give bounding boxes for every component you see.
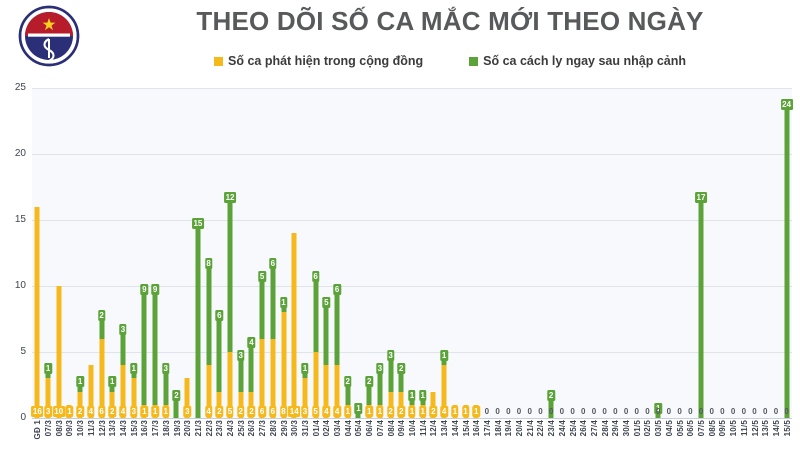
x-axis-tick: 27/4 xyxy=(590,420,599,436)
x-axis-tick: 08/3 xyxy=(55,420,64,436)
bar-column[interactable]: 21 xyxy=(364,88,375,418)
bar-value-label-community: 1 xyxy=(462,406,469,417)
bar-column[interactable]: 26 xyxy=(96,88,107,418)
y-axis-tick: 0 xyxy=(0,412,26,423)
bar-value-label-community: 14 xyxy=(288,406,300,417)
x-axis-labels: GĐ 107/308/309/310/311/312/313/314/315/3… xyxy=(32,420,792,450)
x-axis-tick: 13/4 xyxy=(440,420,449,436)
x-axis-tick: 25/3 xyxy=(237,420,246,436)
bar-column[interactable]: 13 xyxy=(43,88,54,418)
bar-column[interactable]: 31 xyxy=(160,88,171,418)
x-axis-tick: 28/3 xyxy=(269,420,278,436)
axis-baseline xyxy=(32,418,792,419)
bar-value-label-community: 1 xyxy=(451,406,458,417)
legend-swatch-community xyxy=(214,57,223,66)
x-axis-tick: 10/5 xyxy=(729,420,738,436)
bar-column[interactable]: 0 xyxy=(760,88,771,418)
x-axis-tick: 11/3 xyxy=(87,420,96,436)
x-axis-tick: 19/4 xyxy=(504,420,513,436)
bar-value-label-zero: 0 xyxy=(783,406,790,417)
bar-column[interactable]: 2 xyxy=(171,88,182,418)
bar-value-label-quarantine: 1 xyxy=(280,297,287,308)
bar-column[interactable]: 22 xyxy=(396,88,407,418)
bar-column[interactable]: 91 xyxy=(150,88,161,418)
bar-column[interactable]: 0 xyxy=(524,88,535,418)
x-axis-tick: 02/4 xyxy=(322,420,331,436)
bar-column[interactable]: 11 xyxy=(417,88,428,418)
bar-column[interactable]: 0 xyxy=(717,88,728,418)
bar-value-label-zero: 0 xyxy=(569,406,576,417)
bar-value-label-zero: 0 xyxy=(665,406,672,417)
x-axis-tick: 23/3 xyxy=(215,420,224,436)
x-axis-tick: 21/3 xyxy=(194,420,203,436)
x-axis-tick: 28/4 xyxy=(601,420,610,436)
bar-value-label-zero: 0 xyxy=(644,406,651,417)
bar-column[interactable]: 14 xyxy=(289,88,300,418)
bar-value-label-quarantine: 1 xyxy=(109,376,116,387)
bar-value-label-quarantine: 1 xyxy=(440,350,447,361)
bar-value-label-quarantine: 15 xyxy=(192,218,204,229)
bar-quarantine[interactable] xyxy=(153,286,158,405)
bar-column[interactable]: 1 xyxy=(449,88,460,418)
bar-community[interactable] xyxy=(56,286,61,418)
chart-header: THEO DÕI SỐ CA MẮC MỚI THEO NGÀY Số ca p… xyxy=(0,0,800,78)
bar-value-label-community: 1 xyxy=(141,406,148,417)
bar-column[interactable]: 0 xyxy=(567,88,578,418)
legend-item-community[interactable]: Số ca phát hiện trong cộng đồng xyxy=(214,54,423,68)
bar-value-label-quarantine: 5 xyxy=(323,297,330,308)
bar-value-label-community: 5 xyxy=(312,406,319,417)
bar-value-label-community: 2 xyxy=(76,406,83,417)
y-axis-tick: 20 xyxy=(0,148,26,159)
bar-value-label-zero: 0 xyxy=(676,406,683,417)
x-axis-tick: 07/4 xyxy=(376,420,385,436)
bar-value-label-quarantine: 1 xyxy=(419,390,426,401)
bar-column[interactable]: 31 xyxy=(375,88,386,418)
chart-plot-area: 1613101124261234139191312315846212532425… xyxy=(32,88,792,418)
bar-column[interactable]: 42 xyxy=(246,88,257,418)
bar-column[interactable]: 0 xyxy=(599,88,610,418)
x-axis-tick: 11/5 xyxy=(740,420,749,436)
x-axis-tick: 29/4 xyxy=(611,420,620,436)
bar-value-label-community: 2 xyxy=(237,406,244,417)
x-axis-tick: 14/5 xyxy=(772,420,781,436)
bar-value-label-zero: 0 xyxy=(526,406,533,417)
bar-column[interactable]: 65 xyxy=(310,88,321,418)
bar-column[interactable]: 0 xyxy=(642,88,653,418)
bar-value-label-community: 1 xyxy=(344,406,351,417)
bar-value-label-zero: 0 xyxy=(708,406,715,417)
bar-column[interactable]: 13 xyxy=(128,88,139,418)
bar-value-label-zero: 0 xyxy=(654,406,661,417)
x-axis-tick: 06/4 xyxy=(365,420,374,436)
bar-value-label-zero: 0 xyxy=(483,406,490,417)
bar-column[interactable]: 20 xyxy=(546,88,557,418)
bar-value-label-quarantine: 6 xyxy=(216,310,223,321)
bar-column[interactable]: 170 xyxy=(696,88,707,418)
bar-quarantine[interactable] xyxy=(324,299,329,365)
x-axis-tick: 04/4 xyxy=(344,420,353,436)
bar-value-label-quarantine: 6 xyxy=(333,284,340,295)
y-axis-tick: 5 xyxy=(0,346,26,357)
bar-column[interactable]: 0 xyxy=(749,88,760,418)
x-axis-tick: 06/5 xyxy=(686,420,695,436)
x-axis-tick: 13/5 xyxy=(761,420,770,436)
x-axis-tick: 11/4 xyxy=(419,420,428,436)
bar-column[interactable]: 125 xyxy=(225,88,236,418)
x-axis-tick: 19/3 xyxy=(173,420,182,436)
bar-column[interactable]: 240 xyxy=(781,88,792,418)
bar-column[interactable]: 3 xyxy=(182,88,193,418)
bar-value-label-quarantine: 24 xyxy=(781,99,793,110)
bar-value-label-community: 2 xyxy=(248,406,255,417)
bar-value-label-quarantine: 2 xyxy=(547,390,554,401)
x-axis-tick: 15/4 xyxy=(462,420,471,436)
bar-columns: 1613101124261234139191312315846212532425… xyxy=(32,88,792,418)
bar-community[interactable] xyxy=(35,207,40,418)
bar-value-label-community: 16 xyxy=(31,406,43,417)
bar-value-label-community: 1 xyxy=(66,406,73,417)
bar-column[interactable]: 0 xyxy=(728,88,739,418)
x-axis-tick: 03/5 xyxy=(654,420,663,436)
x-axis-tick: 08/4 xyxy=(387,420,396,436)
x-axis-tick: 21/4 xyxy=(526,420,535,436)
x-axis-tick: 05/5 xyxy=(676,420,685,436)
bar-value-label-community: 4 xyxy=(333,406,340,417)
legend-item-quarantine[interactable]: Số ca cách ly ngay sau nhập cảnh xyxy=(469,54,686,68)
bar-column[interactable]: 10 xyxy=(53,88,64,418)
bar-quarantine[interactable] xyxy=(784,101,789,418)
bar-community[interactable] xyxy=(292,233,297,418)
x-axis-tick: 16/4 xyxy=(472,420,481,436)
bar-value-label-community: 6 xyxy=(98,406,105,417)
bar-value-label-community: 10 xyxy=(53,406,65,417)
bar-value-label-community: 2 xyxy=(430,406,437,417)
bar-value-label-zero: 0 xyxy=(740,406,747,417)
x-axis-tick: 31/3 xyxy=(301,420,310,436)
bar-value-label-zero: 0 xyxy=(761,406,768,417)
bar-value-label-zero: 0 xyxy=(622,406,629,417)
bar-column[interactable]: 13 xyxy=(300,88,311,418)
x-axis-tick: 30/4 xyxy=(622,420,631,436)
x-axis-tick: 14/3 xyxy=(119,420,128,436)
x-axis-tick: 30/3 xyxy=(290,420,299,436)
bar-column[interactable]: 11 xyxy=(407,88,418,418)
bar-column[interactable]: 16 xyxy=(32,88,43,418)
bo-y-te-logo-icon xyxy=(18,5,80,67)
x-axis-tick: 15/5 xyxy=(783,420,792,436)
bar-column[interactable]: 12 xyxy=(107,88,118,418)
bar-column[interactable]: 0 xyxy=(578,88,589,418)
bar-value-label-zero: 0 xyxy=(612,406,619,417)
bar-value-label-community: 4 xyxy=(323,406,330,417)
bar-value-label-zero: 0 xyxy=(590,406,597,417)
x-axis-tick: 13/3 xyxy=(108,420,117,436)
bar-column[interactable]: 34 xyxy=(118,88,129,418)
x-axis-tick: 12/4 xyxy=(429,420,438,436)
bar-column[interactable]: 0 xyxy=(557,88,568,418)
bar-column[interactable]: 0 xyxy=(631,88,642,418)
bar-column[interactable]: 0 xyxy=(685,88,696,418)
bar-value-label-community: 6 xyxy=(258,406,265,417)
x-axis-tick: 03/4 xyxy=(333,420,342,436)
bar-column[interactable]: 2 xyxy=(428,88,439,418)
bar-value-label-community: 1 xyxy=(151,406,158,417)
bar-value-label-zero: 0 xyxy=(772,406,779,417)
x-axis-tick: 25/4 xyxy=(569,420,578,436)
bar-column[interactable]: 62 xyxy=(214,88,225,418)
bar-value-label-zero: 0 xyxy=(729,406,736,417)
x-axis-tick: 18/4 xyxy=(494,420,503,436)
x-axis-tick: 16/3 xyxy=(140,420,149,436)
bar-value-label-community: 2 xyxy=(109,406,116,417)
x-axis-tick: 15/3 xyxy=(130,420,139,436)
bar-column[interactable]: 10 xyxy=(653,88,664,418)
bar-quarantine[interactable] xyxy=(270,260,275,339)
bar-column[interactable]: 1 xyxy=(460,88,471,418)
bar-value-label-community: 1 xyxy=(419,406,426,417)
bar-quarantine[interactable] xyxy=(217,312,222,391)
bar-column[interactable]: 64 xyxy=(332,88,343,418)
bar-value-label-community: 8 xyxy=(280,406,287,417)
bar-column[interactable]: 54 xyxy=(321,88,332,418)
y-axis-tick: 10 xyxy=(0,280,26,291)
bar-column[interactable]: 14 xyxy=(439,88,450,418)
bar-value-label-community: 6 xyxy=(269,406,276,417)
page-title: THEO DÕI SỐ CA MẮC MỚI THEO NGÀY xyxy=(120,6,780,37)
bar-value-label-quarantine: 9 xyxy=(151,284,158,295)
bar-column[interactable]: 0 xyxy=(771,88,782,418)
x-axis-tick: 26/4 xyxy=(579,420,588,436)
x-axis-tick: 26/3 xyxy=(247,420,256,436)
bar-column[interactable]: 0 xyxy=(674,88,685,418)
bar-value-label-community: 1 xyxy=(408,406,415,417)
bar-value-label-zero: 0 xyxy=(580,406,587,417)
x-axis-tick: 04/5 xyxy=(665,420,674,436)
legend-label-quarantine: Số ca cách ly ngay sau nhập cảnh xyxy=(483,54,686,68)
bar-quarantine[interactable] xyxy=(699,194,704,418)
bar-column[interactable]: 21 xyxy=(342,88,353,418)
bar-value-label-zero: 0 xyxy=(558,406,565,417)
bar-column[interactable]: 32 xyxy=(385,88,396,418)
bar-value-label-zero: 0 xyxy=(515,406,522,417)
x-axis-tick: 18/3 xyxy=(162,420,171,436)
bar-column[interactable]: 0 xyxy=(482,88,493,418)
bar-value-label-zero: 0 xyxy=(719,406,726,417)
bar-value-label-community: 5 xyxy=(226,406,233,417)
x-axis-tick: 12/3 xyxy=(98,420,107,436)
bar-column[interactable]: 66 xyxy=(267,88,278,418)
bar-value-label-community: 2 xyxy=(387,406,394,417)
bar-value-label-quarantine: 17 xyxy=(695,192,707,203)
bar-column[interactable]: 18 xyxy=(278,88,289,418)
x-axis-tick: 07/3 xyxy=(44,420,53,436)
x-axis-tick: 08/5 xyxy=(708,420,717,436)
bar-value-label-quarantine: 5 xyxy=(258,271,265,282)
x-axis-tick: 02/5 xyxy=(643,420,652,436)
bar-value-label-quarantine: 1 xyxy=(355,403,362,414)
bar-value-label-quarantine: 9 xyxy=(141,284,148,295)
bar-column[interactable]: 12 xyxy=(75,88,86,418)
bar-value-label-quarantine: 6 xyxy=(269,258,276,269)
bar-value-label-quarantine: 1 xyxy=(301,363,308,374)
bar-value-label-quarantine: 12 xyxy=(224,192,236,203)
x-axis-tick: 22/3 xyxy=(205,420,214,436)
bar-value-label-community: 1 xyxy=(162,406,169,417)
legend-swatch-quarantine xyxy=(469,57,478,66)
bar-value-label-zero: 0 xyxy=(601,406,608,417)
bar-value-label-quarantine: 8 xyxy=(205,258,212,269)
bar-quarantine[interactable] xyxy=(313,273,318,352)
x-axis-tick: 20/3 xyxy=(183,420,192,436)
bar-value-label-community: 1 xyxy=(376,406,383,417)
bar-community[interactable] xyxy=(281,312,286,418)
bar-column[interactable]: 0 xyxy=(589,88,600,418)
bar-value-label-community: 3 xyxy=(44,406,51,417)
bar-column[interactable]: 4 xyxy=(86,88,97,418)
x-axis-tick: 17/4 xyxy=(483,420,492,436)
x-axis-tick: 29/3 xyxy=(280,420,289,436)
bar-value-label-quarantine: 1 xyxy=(130,363,137,374)
bar-value-label-quarantine: 2 xyxy=(173,390,180,401)
x-axis-tick: 05/4 xyxy=(354,420,363,436)
bar-value-label-zero: 0 xyxy=(505,406,512,417)
bar-column[interactable]: 0 xyxy=(492,88,503,418)
chart-legend: Số ca phát hiện trong cộng đồng Số ca cá… xyxy=(120,54,780,68)
x-axis-tick: 09/3 xyxy=(65,420,74,436)
bar-quarantine[interactable] xyxy=(335,286,340,365)
bar-value-label-quarantine: 2 xyxy=(398,363,405,374)
bar-value-label-quarantine: 3 xyxy=(162,363,169,374)
bar-value-label-quarantine: 3 xyxy=(387,350,394,361)
bar-value-label-community: 1 xyxy=(365,406,372,417)
x-axis-tick: 09/5 xyxy=(718,420,727,436)
x-axis-tick: 23/4 xyxy=(547,420,556,436)
x-axis-tick: 07/5 xyxy=(697,420,706,436)
bar-value-label-community: 3 xyxy=(183,406,190,417)
bar-value-label-quarantine: 1 xyxy=(44,363,51,374)
bar-column[interactable]: 84 xyxy=(203,88,214,418)
bar-column[interactable]: 0 xyxy=(664,88,675,418)
bar-value-label-zero: 0 xyxy=(751,406,758,417)
x-axis-tick: 27/3 xyxy=(258,420,267,436)
bar-column[interactable]: 0 xyxy=(621,88,632,418)
bar-value-label-zero: 0 xyxy=(697,406,704,417)
y-axis-tick: 15 xyxy=(0,214,26,225)
bar-value-label-zero: 0 xyxy=(687,406,694,417)
bar-column[interactable]: 0 xyxy=(706,88,717,418)
bar-quarantine[interactable] xyxy=(195,220,200,418)
bar-value-label-quarantine: 4 xyxy=(248,337,255,348)
x-axis-tick: 09/4 xyxy=(397,420,406,436)
bar-column[interactable]: 1 xyxy=(471,88,482,418)
bar-value-label-quarantine: 3 xyxy=(119,324,126,335)
bar-value-label-community: 3 xyxy=(301,406,308,417)
bar-column[interactable]: 0 xyxy=(503,88,514,418)
bar-value-label-zero: 0 xyxy=(547,406,554,417)
bar-column[interactable]: 1 xyxy=(64,88,75,418)
bar-quarantine[interactable] xyxy=(142,286,147,405)
bar-value-label-zero: 0 xyxy=(494,406,501,417)
x-axis-tick: 01/4 xyxy=(312,420,321,436)
bar-value-label-community: 4 xyxy=(119,406,126,417)
x-axis-tick: 14/4 xyxy=(451,420,460,436)
bar-value-label-community: 4 xyxy=(87,406,94,417)
bar-quarantine[interactable] xyxy=(260,273,265,339)
bar-column[interactable]: 32 xyxy=(235,88,246,418)
bar-column[interactable]: 1 xyxy=(353,88,364,418)
bar-value-label-community: 3 xyxy=(130,406,137,417)
x-axis-tick: 24/3 xyxy=(226,420,235,436)
bar-value-label-community: 4 xyxy=(205,406,212,417)
bar-column[interactable]: 0 xyxy=(535,88,546,418)
x-axis-tick: 17/3 xyxy=(151,420,160,436)
x-axis-tick: 24/4 xyxy=(558,420,567,436)
bar-value-label-quarantine: 1 xyxy=(408,390,415,401)
x-axis-tick: GĐ 1 xyxy=(33,420,42,439)
x-axis-tick: 10/3 xyxy=(76,420,85,436)
bar-quarantine[interactable] xyxy=(228,194,233,352)
x-axis-tick: 10/4 xyxy=(408,420,417,436)
bar-value-label-zero: 0 xyxy=(633,406,640,417)
bar-value-label-community: 4 xyxy=(440,406,447,417)
bar-value-label-community: 1 xyxy=(472,406,479,417)
x-axis-tick: 12/5 xyxy=(751,420,760,436)
bar-column[interactable]: 0 xyxy=(738,88,749,418)
bar-value-label-quarantine: 1 xyxy=(76,376,83,387)
bar-column[interactable]: 15 xyxy=(193,88,204,418)
legend-label-community: Số ca phát hiện trong cộng đồng xyxy=(228,54,423,68)
bar-quarantine[interactable] xyxy=(206,260,211,366)
bar-value-label-community: 2 xyxy=(398,406,405,417)
bar-column[interactable]: 91 xyxy=(139,88,150,418)
bar-value-label-quarantine: 2 xyxy=(365,376,372,387)
bar-value-label-quarantine: 3 xyxy=(376,363,383,374)
bar-value-label-quarantine: 2 xyxy=(344,376,351,387)
x-axis-tick: 22/4 xyxy=(536,420,545,436)
bar-value-label-quarantine: 2 xyxy=(98,310,105,321)
x-axis-tick: 20/4 xyxy=(515,420,524,436)
bar-value-label-quarantine: 6 xyxy=(312,271,319,282)
bar-column[interactable]: 56 xyxy=(257,88,268,418)
x-axis-tick: 01/5 xyxy=(633,420,642,436)
bar-value-label-zero: 0 xyxy=(537,406,544,417)
y-axis-tick: 25 xyxy=(0,82,26,93)
bar-column[interactable]: 0 xyxy=(610,88,621,418)
bar-value-label-quarantine: 3 xyxy=(237,350,244,361)
bar-column[interactable]: 0 xyxy=(514,88,525,418)
bar-value-label-community: 2 xyxy=(216,406,223,417)
